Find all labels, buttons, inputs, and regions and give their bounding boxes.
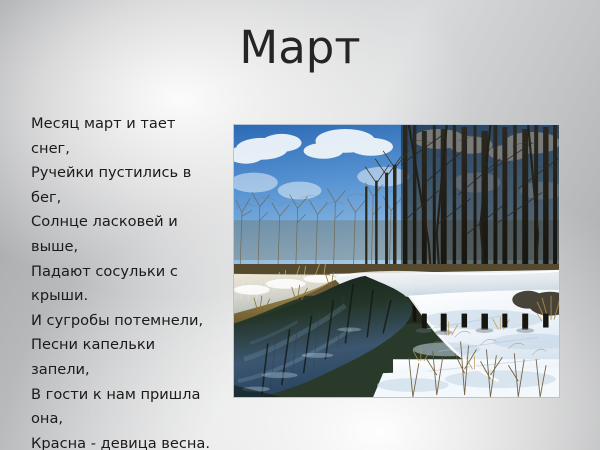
poem-text-block: Месяц март и тает снег, Ручейки пустилис… xyxy=(31,112,217,450)
slide-photo xyxy=(233,124,560,398)
poem-line: В гости к нам пришла она, xyxy=(31,383,217,432)
photo-illustration xyxy=(234,125,559,397)
poem-line: И сугробы потемнели, xyxy=(31,309,217,334)
poem-line: Красна - девица весна. xyxy=(31,432,217,450)
poem-line: Солнце ласковей и выше, xyxy=(31,210,217,259)
poem-line: Ручейки пустились в бег, xyxy=(31,161,217,210)
poem-line: Песни капельки запели, xyxy=(31,333,217,382)
forest-stream-photo xyxy=(234,125,559,397)
page-title: Март xyxy=(0,23,600,73)
poem-line: Падают сосульки с крыши. xyxy=(31,260,217,309)
poem-line: Месяц март и тает снег, xyxy=(31,112,217,161)
presentation-slide: Март Месяц март и тает снег, Ручейки пус… xyxy=(0,0,600,450)
